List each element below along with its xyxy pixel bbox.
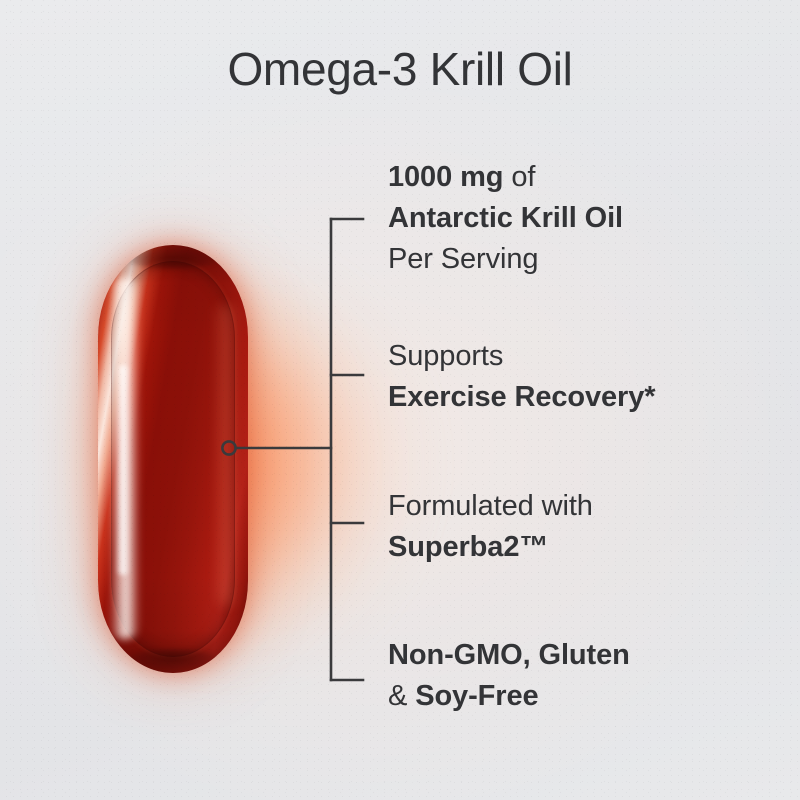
capsule-seam-bottom	[126, 649, 220, 671]
callout-line: 1000 mg of	[388, 157, 623, 198]
callout-text: &	[388, 680, 415, 712]
callout-line: Formulated with	[388, 486, 593, 527]
callout-benefit: Supports Exercise Recovery*	[388, 336, 655, 418]
callout-text: Formulated with	[388, 490, 593, 522]
page-title: Omega-3 Krill Oil	[0, 42, 800, 96]
callout-line: & Soy-Free	[388, 676, 630, 717]
callout-certifications: Non-GMO, Gluten & Soy-Free	[388, 635, 630, 717]
callout-line: Supports	[388, 336, 655, 377]
callout-text: Superba2™	[388, 531, 548, 563]
product-capsule-image	[96, 243, 250, 675]
product-infographic: Omega-3 Krill Oil 1000 mg of	[0, 0, 800, 800]
callout-line: Antarctic Krill Oil	[388, 198, 623, 239]
callout-ingredient-brand: Formulated with Superba2™	[388, 486, 593, 568]
callout-text: Supports	[388, 340, 503, 372]
callout-line: Per Serving	[388, 239, 623, 280]
callout-text: Antarctic Krill Oil	[388, 202, 623, 234]
capsule-seam-top	[126, 247, 220, 269]
softgel-capsule	[98, 245, 248, 673]
callout-line: Superba2™	[388, 527, 593, 568]
capsule-specular-highlight-core	[116, 365, 130, 575]
callout-dosage: 1000 mg of Antarctic Krill Oil Per Servi…	[388, 157, 623, 280]
callout-text: Non-GMO, Gluten	[388, 639, 630, 671]
callout-line: Non-GMO, Gluten	[388, 635, 630, 676]
callout-line: Exercise Recovery*	[388, 377, 655, 418]
callout-text: Soy-Free	[415, 680, 538, 712]
callout-text: 1000 mg	[388, 161, 503, 193]
callout-text: Exercise Recovery*	[388, 381, 655, 413]
callout-text: of	[503, 161, 535, 193]
callout-text: Per Serving	[388, 243, 538, 275]
